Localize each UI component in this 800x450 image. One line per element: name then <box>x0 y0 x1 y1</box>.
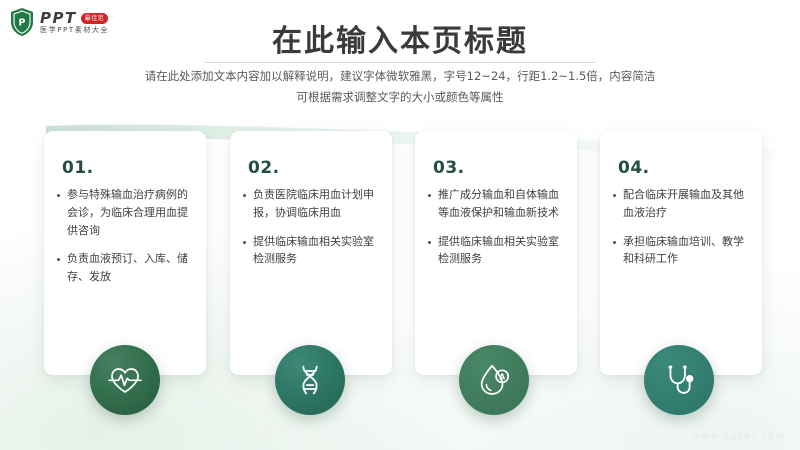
card-bullet-list-3: 推广成分输血和自体输血等血液保护和输血新技术 提供临床输血相关实验室检测服务 <box>427 186 567 279</box>
card-icon-badge-4[interactable] <box>644 345 714 415</box>
heart-pulse-icon <box>105 360 145 400</box>
list-item: 提供临床输血相关实验室检测服务 <box>427 233 567 269</box>
list-item: 承担临床输血培训、教学和科研工作 <box>612 233 752 269</box>
list-item: 推广成分输血和自体输血等血液保护和输血新技术 <box>427 186 567 222</box>
list-item: 参与特殊输血治疗病例的会诊，为临床合理用血提供咨询 <box>56 186 196 239</box>
card-bullet-list-4: 配合临床开展输血及其他血液治疗 承担临床输血培训、教学和科研工作 <box>612 186 752 279</box>
list-item: 负责血液预订、入库、储存、发放 <box>56 250 196 286</box>
content-card-4[interactable]: 04. 配合临床开展输血及其他血液治疗 承担临床输血培训、教学和科研工作 <box>600 131 762 375</box>
content-card-1[interactable]: 01. 参与特殊输血治疗病例的会诊，为临床合理用血提供咨询 负责血液预订、入库、… <box>44 131 206 375</box>
page-title: 在此输入本页标题 <box>0 16 800 60</box>
card-number-2: 02. <box>248 158 280 178</box>
list-item: 提供临床输血相关实验室检测服务 <box>242 233 382 269</box>
subtitle-line-1: 请在此处添加文本内容加以解释说明，建议字体微软雅黑，字号12~24，行距1.2~… <box>0 66 800 87</box>
svg-text:A: A <box>499 372 505 381</box>
stethoscope-icon <box>660 361 698 399</box>
card-icon-badge-3[interactable]: A <box>459 345 529 415</box>
dna-icon <box>291 361 329 399</box>
card-bullet-list-1: 参与特殊输血治疗病例的会诊，为临床合理用血提供咨询 负责血液预订、入库、储存、发… <box>56 186 196 297</box>
blood-drop-type-a-icon: A <box>475 361 513 399</box>
content-card-3[interactable]: 03. 推广成分输血和自体输血等血液保护和输血新技术 提供临床输血相关实验室检测… <box>415 131 577 375</box>
subtitle-line-2: 可根据需求调整文字的大小或颜色等属性 <box>0 87 800 108</box>
list-item: 配合临床开展输血及其他血液治疗 <box>612 186 752 222</box>
page-subtitle: 请在此处添加文本内容加以解释说明，建议字体微软雅黑，字号12~24，行距1.2~… <box>0 66 800 109</box>
card-icon-badge-2[interactable] <box>275 345 345 415</box>
content-card-2[interactable]: 02. 负责医院临床用血计划申报，协调临床用血 提供临床输血相关实验室检测服务 <box>230 131 392 375</box>
site-watermark: www.ppter.com <box>693 432 786 441</box>
card-bullet-list-2: 负责医院临床用血计划申报，协调临床用血 提供临床输血相关实验室检测服务 <box>242 186 382 279</box>
card-number-1: 01. <box>62 158 94 178</box>
title-divider <box>205 62 595 63</box>
list-item: 负责医院临床用血计划申报，协调临床用血 <box>242 186 382 222</box>
card-icon-badge-1[interactable] <box>90 345 160 415</box>
card-number-3: 03. <box>433 158 465 178</box>
card-number-4: 04. <box>618 158 650 178</box>
